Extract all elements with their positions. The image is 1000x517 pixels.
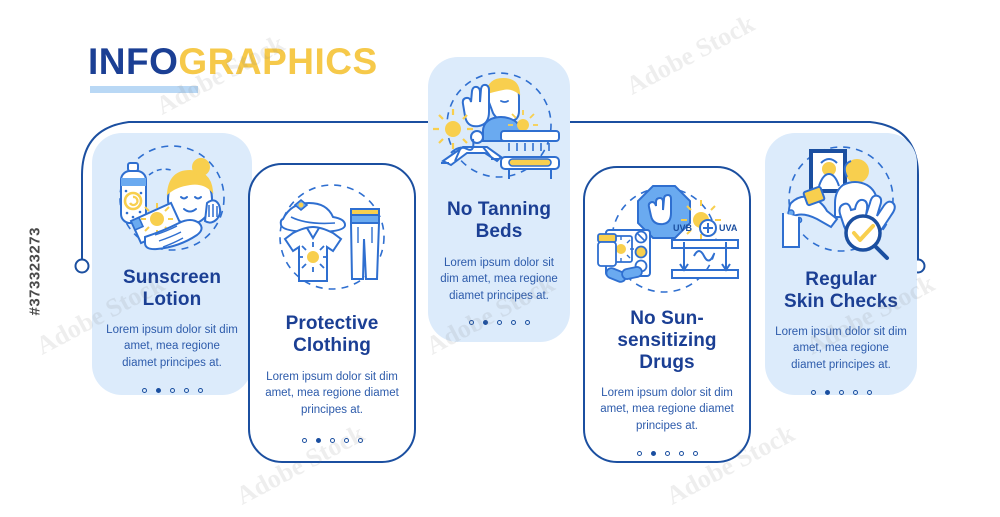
pagination-dot-active[interactable] <box>156 388 161 393</box>
pagination-dots[interactable] <box>142 388 203 393</box>
card-title-line: No Sun- <box>590 308 745 330</box>
card-title-line: Lotion <box>97 289 247 311</box>
pagination-dot-active[interactable] <box>316 438 321 443</box>
pagination-dot[interactable] <box>867 390 872 395</box>
pagination-dots[interactable] <box>811 390 872 395</box>
pagination-dot[interactable] <box>330 438 335 443</box>
card-description: Lorem ipsum dolor sit dim amet, mea regi… <box>437 255 562 304</box>
card-description: Lorem ipsum dolor sit dim amet, mea regi… <box>265 369 400 418</box>
card-title-line: Protective <box>255 313 410 335</box>
title-part-info: INFO <box>88 41 178 82</box>
card-sunscreen-lotion[interactable]: Sunscreen Lotion Lorem ipsum dolor sit d… <box>92 133 252 395</box>
regular-skin-checks-icon <box>769 141 914 261</box>
card-title-line: sensitizing <box>590 330 745 352</box>
pagination-dot[interactable] <box>679 451 684 456</box>
pagination-dots[interactable] <box>469 320 530 325</box>
pagination-dot[interactable] <box>853 390 858 395</box>
pagination-dot[interactable] <box>497 320 502 325</box>
card-description: Lorem ipsum dolor sit dim amet, mea regi… <box>775 324 907 373</box>
card-title-line: Beds <box>432 221 567 243</box>
card-description: Lorem ipsum dolor sit dim amet, mea regi… <box>600 385 735 434</box>
pagination-dot-active[interactable] <box>651 451 656 456</box>
uvb-label: UVB <box>673 223 693 233</box>
card-no-tanning-beds[interactable]: No Tanning Beds Lorem ipsum dolor sit di… <box>428 57 570 342</box>
pagination-dot[interactable] <box>184 388 189 393</box>
pagination-dots[interactable] <box>637 451 698 456</box>
pagination-dot[interactable] <box>198 388 203 393</box>
pagination-dot-active[interactable] <box>825 390 830 395</box>
card-title: Sunscreen Lotion <box>97 267 247 311</box>
pagination-dot[interactable] <box>142 388 147 393</box>
page-title: INFOGRAPHICS <box>88 43 378 80</box>
pagination-dot[interactable] <box>344 438 349 443</box>
card-title-line: No Tanning <box>432 199 567 221</box>
card-title-line: Regular <box>767 269 915 291</box>
uva-label: UVA <box>719 223 738 233</box>
pagination-dot-active[interactable] <box>483 320 488 325</box>
no-sun-sensitizing-drugs-icon: UVB UVA <box>590 178 745 300</box>
pagination-dot[interactable] <box>302 438 307 443</box>
infographic-canvas: INFOGRAPHICS #373323273 <box>0 0 1000 517</box>
pagination-dot[interactable] <box>637 451 642 456</box>
stock-id-watermark: #373323273 <box>27 206 44 316</box>
pagination-dot[interactable] <box>525 320 530 325</box>
pagination-dot[interactable] <box>811 390 816 395</box>
pagination-dot[interactable] <box>693 451 698 456</box>
card-title-line: Sunscreen <box>97 267 247 289</box>
pagination-dot[interactable] <box>170 388 175 393</box>
card-title: No Tanning Beds <box>432 199 567 243</box>
pagination-dot[interactable] <box>469 320 474 325</box>
card-title-line: Drugs <box>590 352 745 374</box>
title-underline <box>90 86 198 93</box>
card-title-line: Skin Checks <box>767 291 915 313</box>
title-part-graphics: GRAPHICS <box>178 41 377 82</box>
pagination-dot[interactable] <box>665 451 670 456</box>
card-title: Protective Clothing <box>255 313 410 357</box>
card-regular-skin-checks[interactable]: Regular Skin Checks Lorem ipsum dolor si… <box>765 133 917 395</box>
card-title: Regular Skin Checks <box>767 269 915 313</box>
no-tanning-beds-icon <box>431 67 567 189</box>
pagination-dot[interactable] <box>839 390 844 395</box>
pagination-dot[interactable] <box>358 438 363 443</box>
card-protective-clothing[interactable]: Protective Clothing Lorem ipsum dolor si… <box>248 163 416 463</box>
stock-watermark: Adobe Stock <box>621 9 759 102</box>
pagination-dots[interactable] <box>302 438 363 443</box>
card-no-sun-sensitizing-drugs[interactable]: UVB UVA No Sun- sensitizing Drugs Lorem … <box>583 166 751 463</box>
sunscreen-lotion-icon <box>97 141 247 259</box>
pagination-dot[interactable] <box>511 320 516 325</box>
protective-clothing-icon <box>257 177 407 297</box>
card-title: No Sun- sensitizing Drugs <box>590 308 745 374</box>
card-description: Lorem ipsum dolor sit dim amet, mea regi… <box>106 322 239 371</box>
card-title-line: Clothing <box>255 335 410 357</box>
